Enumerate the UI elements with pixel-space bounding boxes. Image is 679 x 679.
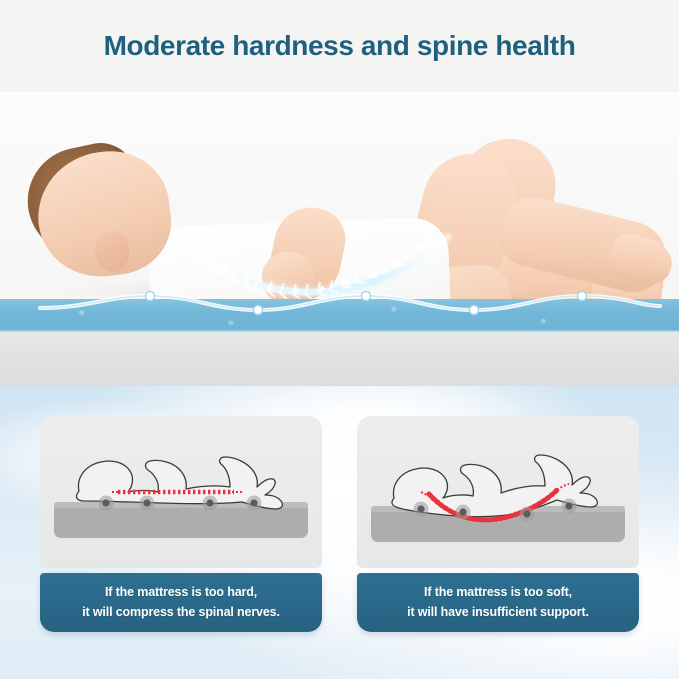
mattress-support-layer (0, 333, 679, 386)
caption-too-soft: If the mattress is too soft, it will hav… (357, 573, 639, 632)
caption-line-2: it will compress the spinal nerves. (82, 603, 280, 622)
illustration-too-soft (357, 416, 639, 568)
panel-too-hard[interactable]: If the mattress is too hard, it will com… (40, 416, 322, 649)
too-soft-diagram (357, 416, 639, 568)
page-title: Moderate hardness and spine health (0, 30, 679, 62)
product-infographic: Moderate hardness and spine health (0, 0, 679, 679)
panel-too-soft[interactable]: If the mattress is too soft, it will hav… (357, 416, 639, 649)
hero-section: Moderate hardness and spine health (0, 0, 679, 386)
too-hard-diagram (40, 416, 322, 568)
comparison-section: If the mattress is too hard, it will com… (0, 386, 679, 679)
caption-line-2: it will have insufficient support. (407, 603, 589, 622)
caption-too-hard: If the mattress is too hard, it will com… (40, 573, 322, 632)
illustration-too-hard (40, 416, 322, 568)
caption-line-1: If the mattress is too soft, (424, 583, 572, 602)
mattress-wave-line (0, 288, 679, 322)
caption-line-1: If the mattress is too hard, (105, 583, 257, 602)
hero-photo (0, 92, 679, 386)
